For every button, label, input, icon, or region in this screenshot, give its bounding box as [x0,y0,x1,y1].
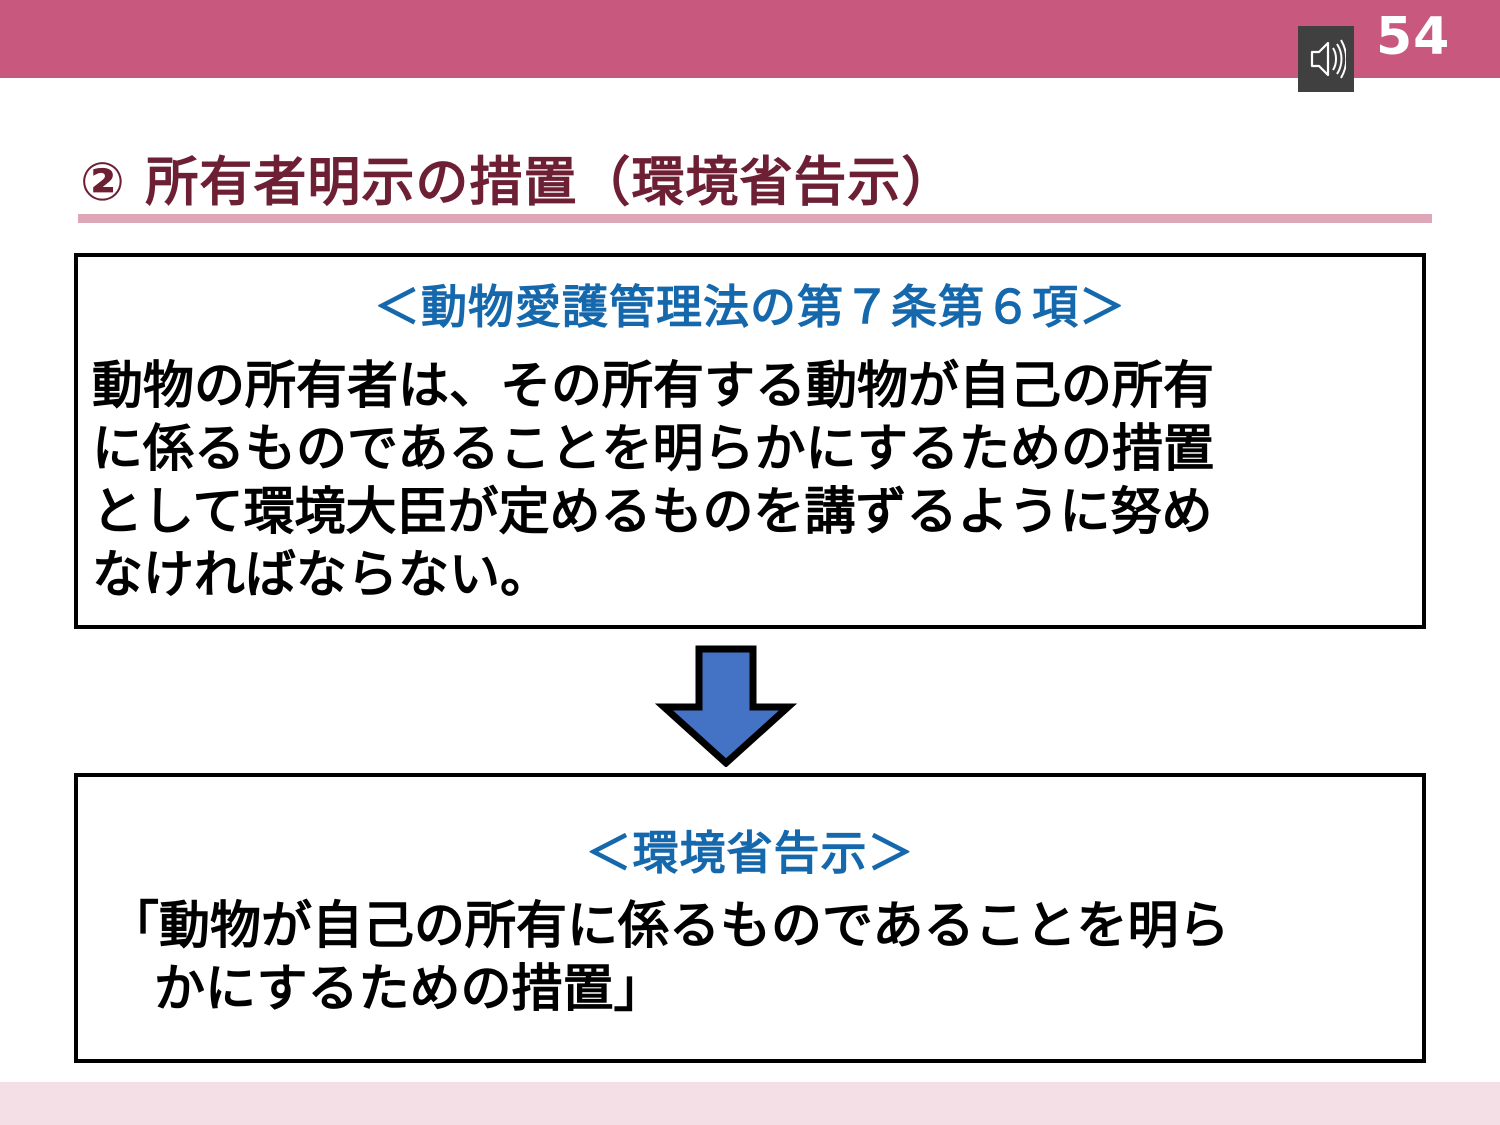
page-title: ② 所有者明示の措置（環境省告示） [80,152,1420,214]
page-number: 54 [1376,6,1476,68]
notice-box-heading: ＜環境省告示＞ [78,825,1422,881]
header-band [0,0,1500,78]
footer-band [0,1082,1500,1125]
law-line-2: に係るものであることを明らかにするための措置 [92,418,1436,481]
law-line-3: として環境大臣が定めるものを講ずるように努め [92,481,1436,544]
down-arrow-icon [655,645,797,767]
notice-box-body: 「動物が自己の所有に係るものであることを明ら かにするための措置」 [108,895,1452,1021]
slide: 54 ② 所有者明示の措置（環境省告示） ＜動物愛護管理法の第７条第６項＞ 動物… [0,0,1500,1125]
law-box-heading: ＜動物愛護管理法の第７条第６項＞ [78,279,1422,335]
title-underline [78,214,1432,223]
law-line-4: なければならない。 [92,544,1436,607]
notice-line-2: かにするための措置」 [108,958,1452,1021]
speaker-icon[interactable] [1298,26,1354,92]
law-box-body: 動物の所有者は、その所有する動物が自己の所有 に係るものであることを明らかにする… [92,355,1436,607]
law-line-1: 動物の所有者は、その所有する動物が自己の所有 [92,355,1436,418]
notice-text-box: ＜環境省告示＞ 「動物が自己の所有に係るものであることを明ら かにするための措置… [74,773,1426,1063]
notice-line-1: 「動物が自己の所有に係るものであることを明ら [108,895,1452,958]
law-text-box: ＜動物愛護管理法の第７条第６項＞ 動物の所有者は、その所有する動物が自己の所有 … [74,253,1426,629]
